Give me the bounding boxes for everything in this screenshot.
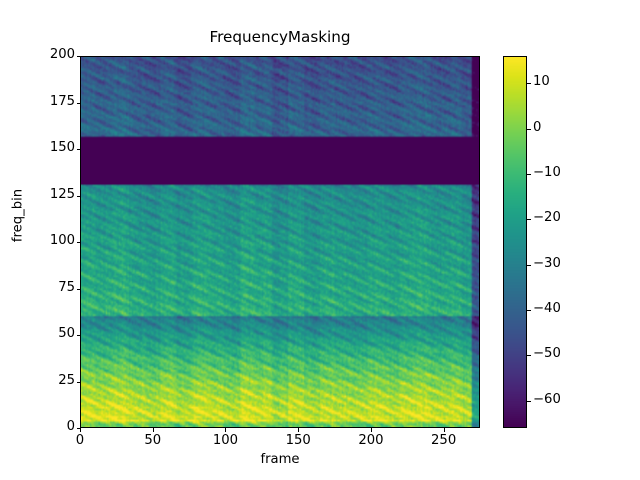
colorbar-tick-label: 0 — [533, 120, 541, 135]
colorbar-tick-label: −60 — [533, 392, 561, 407]
y-tick-mark — [77, 196, 81, 197]
spectrogram-axes — [80, 56, 480, 428]
y-tick-label: 100 — [50, 233, 75, 248]
colorbar-tick-label: 10 — [533, 74, 550, 89]
x-tick-label: 150 — [286, 433, 311, 448]
y-tick-label: 50 — [58, 326, 75, 341]
x-tick-label: 200 — [358, 433, 383, 448]
colorbar-tick-mark — [527, 310, 531, 311]
y-tick-mark — [77, 382, 81, 383]
x-tick-mark — [298, 428, 299, 432]
x-tick-label: 250 — [431, 433, 456, 448]
y-tick-label: 200 — [50, 47, 75, 62]
x-tick-mark — [225, 428, 226, 432]
x-tick-mark — [80, 428, 81, 432]
chart-title: FrequencyMasking — [80, 28, 480, 46]
y-tick-mark — [77, 289, 81, 290]
y-tick-label: 75 — [58, 280, 75, 295]
y-tick-mark — [77, 242, 81, 243]
y-tick-mark — [77, 103, 81, 104]
y-axis-label: freq_bin — [11, 136, 26, 296]
colorbar-tick-mark — [527, 355, 531, 356]
colorbar-tick-mark — [527, 401, 531, 402]
colorbar-tick-label: −50 — [533, 346, 561, 361]
colorbar-tick-mark — [527, 129, 531, 130]
colorbar-tick-label: −30 — [533, 256, 561, 271]
colorbar-tick-label: −10 — [533, 165, 561, 180]
x-tick-mark — [444, 428, 445, 432]
y-tick-mark — [77, 335, 81, 336]
y-tick-mark — [77, 56, 81, 57]
colorbar-tick-mark — [527, 83, 531, 84]
colorbar-tick-mark — [527, 174, 531, 175]
colorbar — [503, 56, 527, 428]
y-tick-label: 175 — [50, 94, 75, 109]
x-tick-label: 50 — [144, 433, 161, 448]
colorbar-gradient — [504, 57, 526, 427]
spectrogram-image — [81, 57, 479, 427]
y-tick-label: 0 — [67, 419, 75, 434]
y-tick-label: 25 — [58, 373, 75, 388]
x-tick-label: 0 — [76, 433, 84, 448]
y-tick-mark — [77, 149, 81, 150]
colorbar-tick-label: −40 — [533, 301, 561, 316]
colorbar-tick-label: −20 — [533, 210, 561, 225]
y-tick-label: 125 — [50, 187, 75, 202]
x-tick-mark — [371, 428, 372, 432]
matplotlib-figure: FrequencyMasking 0255075100125150175200 … — [0, 0, 640, 480]
y-tick-label: 150 — [50, 140, 75, 155]
x-tick-mark — [153, 428, 154, 432]
x-tick-label: 100 — [213, 433, 238, 448]
x-axis-label: frame — [80, 452, 480, 467]
colorbar-tick-mark — [527, 219, 531, 220]
colorbar-tick-mark — [527, 265, 531, 266]
